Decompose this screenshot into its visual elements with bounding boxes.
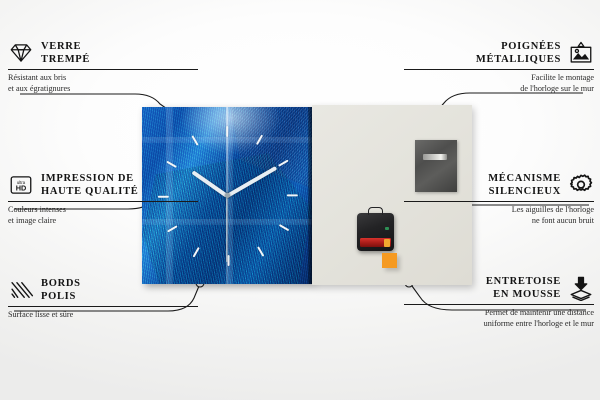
clock-center-cap <box>225 193 230 198</box>
hanger-slot <box>423 154 447 160</box>
diamond-icon <box>8 40 34 66</box>
clock-hour-mark <box>257 246 264 256</box>
picture-frame-hanger-icon <box>568 40 594 66</box>
clock-hour-mark <box>279 224 289 231</box>
feature-description: Couleurs intenses et image claire <box>8 205 198 226</box>
feature-bords-polis: BORDS POLIS Surface lisse et sûre <box>8 277 198 321</box>
clock-hour-mark <box>256 134 263 144</box>
feature-header: ultra HD IMPRESSION DE HAUTE QUALITÉ <box>8 172 198 198</box>
feature-divider <box>404 69 594 70</box>
feature-impression-haute-qualite: ultra HD IMPRESSION DE HAUTE QUALITÉ Cou… <box>8 172 198 226</box>
feature-divider <box>8 306 198 307</box>
polished-edges-icon <box>8 277 34 303</box>
movement-indicator <box>385 227 389 230</box>
feature-divider <box>404 201 594 202</box>
feature-title: ENTRETOISE EN MOUSSE <box>486 275 561 301</box>
feature-header: BORDS POLIS <box>8 277 198 303</box>
quartz-clock-movement <box>357 213 394 251</box>
feature-description: Facilite le montage de l'horloge sur le … <box>404 73 594 94</box>
feature-description: Résistant aux bris et aux égratignures <box>8 73 198 94</box>
clock-hour-mark <box>193 247 200 257</box>
clock-hour-mark <box>287 194 298 196</box>
feature-divider <box>404 304 594 305</box>
feature-mecanisme-silencieux: MÉCANISME SILENCIEUX Les aiguilles de l'… <box>404 172 594 226</box>
clock-hour-mark <box>278 159 288 166</box>
feature-title: MÉCANISME SILENCIEUX <box>488 172 561 198</box>
feature-verre-trempe: VERRE TREMPÉ Résistant aux bris et aux é… <box>8 40 198 94</box>
clock-hour-mark <box>228 255 230 266</box>
clock-hour-mark <box>166 161 176 168</box>
feature-description: Surface lisse et sûre <box>8 310 198 321</box>
feature-poignees-metalliques: POIGNÉES MÉTALLIQUES Facilite le montage… <box>404 40 594 94</box>
feature-title: BORDS POLIS <box>41 277 81 303</box>
foam-spacer-pad <box>382 253 397 268</box>
feature-header: VERRE TREMPÉ <box>8 40 198 66</box>
feature-header: ENTRETOISE EN MOUSSE <box>404 275 594 301</box>
feature-header: POIGNÉES MÉTALLIQUES <box>404 40 594 66</box>
clock-second-hand <box>226 196 227 262</box>
feature-entretoise-en-mousse: ENTRETOISE EN MOUSSE Permet de maintenir… <box>404 275 594 329</box>
battery-positive-terminal <box>384 239 390 247</box>
clock-hour-mark <box>226 126 228 137</box>
clock-minute-hand <box>226 165 277 197</box>
feature-divider <box>8 201 198 202</box>
feature-description: Permet de maintenir une distance uniform… <box>404 308 594 329</box>
gear-icon <box>568 172 594 198</box>
ultra-hd-icon: ultra HD <box>8 172 34 198</box>
feature-divider <box>8 69 198 70</box>
feature-title: IMPRESSION DE HAUTE QUALITÉ <box>41 172 139 198</box>
feature-title: POIGNÉES MÉTALLIQUES <box>476 40 561 66</box>
infographic-canvas: VERRE TREMPÉ Résistant aux bris et aux é… <box>0 0 600 400</box>
svg-text:HD: HD <box>16 184 27 193</box>
aa-battery <box>360 238 391 247</box>
foam-spacer-arrow-icon <box>568 275 594 301</box>
feature-description: Les aiguilles de l'horloge ne font aucun… <box>404 205 594 226</box>
movement-hook-tab <box>368 207 383 215</box>
clock-hour-mark <box>191 135 198 145</box>
feature-header: MÉCANISME SILENCIEUX <box>404 172 594 198</box>
feature-title: VERRE TREMPÉ <box>41 40 90 66</box>
